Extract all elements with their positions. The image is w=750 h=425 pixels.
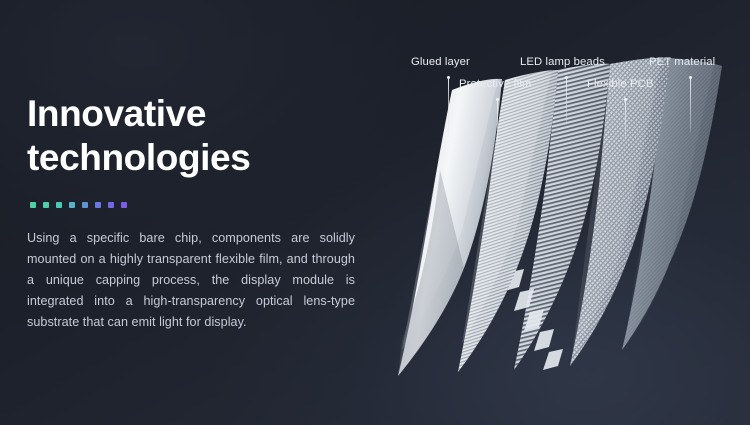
divider-dot xyxy=(69,202,75,208)
exploded-layer-diagram: Glued layer Protective film LED lamp bea… xyxy=(370,0,750,425)
label-pet-material: PET material xyxy=(649,56,715,68)
label-protective-film: Protective film xyxy=(459,78,531,90)
slide-root: Innovative technologies Using a specific… xyxy=(0,0,750,425)
divider-dot xyxy=(95,202,101,208)
page-title-line-2: technologies xyxy=(27,136,357,180)
leader-line xyxy=(625,100,626,142)
text-column: Innovative technologies Using a specific… xyxy=(27,92,357,333)
leader-line xyxy=(497,100,498,150)
page-title: Innovative technologies xyxy=(27,92,357,180)
label-flexible-pcb: Flexible PCB xyxy=(587,78,654,90)
divider-dot xyxy=(82,202,88,208)
leader-line xyxy=(566,78,567,126)
label-glued-layer: Glued layer xyxy=(411,56,470,68)
leader-line xyxy=(690,78,691,134)
leader-line xyxy=(448,78,449,138)
body-paragraph: Using a specific bare chip, components a… xyxy=(27,228,355,333)
page-title-line-1: Innovative xyxy=(27,93,206,134)
divider-dot xyxy=(30,202,36,208)
label-led-lamp-beads: LED lamp beads xyxy=(520,56,605,68)
divider-dot xyxy=(108,202,114,208)
accent-divider xyxy=(30,202,357,208)
diagram-labels: Glued layer Protective film LED lamp bea… xyxy=(370,0,750,425)
divider-dot xyxy=(56,202,62,208)
divider-dot xyxy=(121,202,127,208)
divider-dot xyxy=(43,202,49,208)
